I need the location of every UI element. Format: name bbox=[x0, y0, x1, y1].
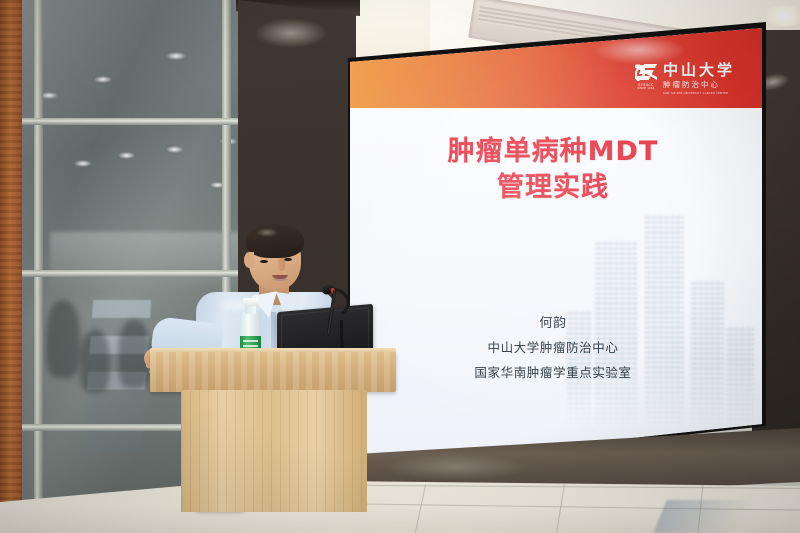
slide-title-line-1: 肿瘤单病种MDT bbox=[344, 134, 762, 170]
floor-tile-seam bbox=[556, 484, 565, 533]
floor-tile-seam bbox=[415, 484, 426, 532]
light-reflection bbox=[94, 76, 112, 83]
affiliation-line-1: 中山大学肿瘤防治中心 bbox=[344, 336, 762, 360]
audience-reflection bbox=[46, 300, 80, 378]
window-mullion-vertical bbox=[34, 0, 43, 533]
logo-center-name: 肿瘤防治中心 bbox=[663, 81, 735, 89]
light-reflection bbox=[166, 52, 186, 60]
audience-reflection bbox=[80, 330, 110, 392]
slide-title: 肿瘤单病种MDT 管理实践 bbox=[344, 134, 762, 205]
bottle-cap bbox=[243, 298, 258, 306]
logo-text-block: 中山大学 肿瘤防治中心 SUN YAT-SEN UNIVERSITY CANCE… bbox=[663, 63, 735, 95]
presentation-room-photo: SYSUCC SINCE 1964 中山大学 肿瘤防治中心 SUN YAT-SE… bbox=[0, 0, 800, 533]
ceiling-downlight bbox=[762, 6, 800, 26]
university-logo: SYSUCC SINCE 1964 中山大学 肿瘤防治中心 SUN YAT-SE… bbox=[634, 56, 756, 102]
slide-title-line-2: 管理实践 bbox=[344, 170, 762, 206]
wall-base-highlight bbox=[386, 454, 526, 480]
podium-body bbox=[181, 390, 367, 512]
slide-subtitle-block: 何韵 中山大学肿瘤防治中心 国家华南肿瘤学重点实验室 bbox=[344, 311, 762, 385]
light-reflection bbox=[118, 152, 135, 159]
floor-light-reflection bbox=[653, 500, 786, 533]
affiliation-line-2: 国家华南肿瘤学重点实验室 bbox=[344, 361, 762, 385]
speaker-name: 何韵 bbox=[344, 311, 762, 336]
sysucc-swoosh-icon: SYSUCC SINCE 1964 bbox=[634, 64, 658, 94]
light-reflection bbox=[74, 160, 92, 167]
wall-specular-highlight bbox=[254, 18, 328, 48]
logo-university-name: 中山大学 bbox=[663, 63, 735, 78]
logo-abbr-sub: SINCE 1964 bbox=[637, 87, 654, 90]
projection-screen: SYSUCC SINCE 1964 中山大学 肿瘤防治中心 SUN YAT-SE… bbox=[344, 26, 762, 466]
speaker-ear bbox=[244, 252, 254, 268]
light-reflection bbox=[166, 146, 183, 153]
swoosh-glyph bbox=[635, 64, 657, 81]
window-mullion-horizontal bbox=[22, 118, 240, 125]
logo-english-name: SUN YAT-SEN UNIVERSITY CANCER CENTER bbox=[663, 91, 735, 95]
speaker-nose bbox=[278, 258, 285, 271]
presentation-slide: SYSUCC SINCE 1964 中山大学 肿瘤防治中心 SUN YAT-SE… bbox=[344, 26, 762, 466]
window-mullion-horizontal bbox=[22, 270, 240, 277]
podium-top bbox=[150, 352, 396, 392]
speaker-hair bbox=[246, 224, 304, 258]
